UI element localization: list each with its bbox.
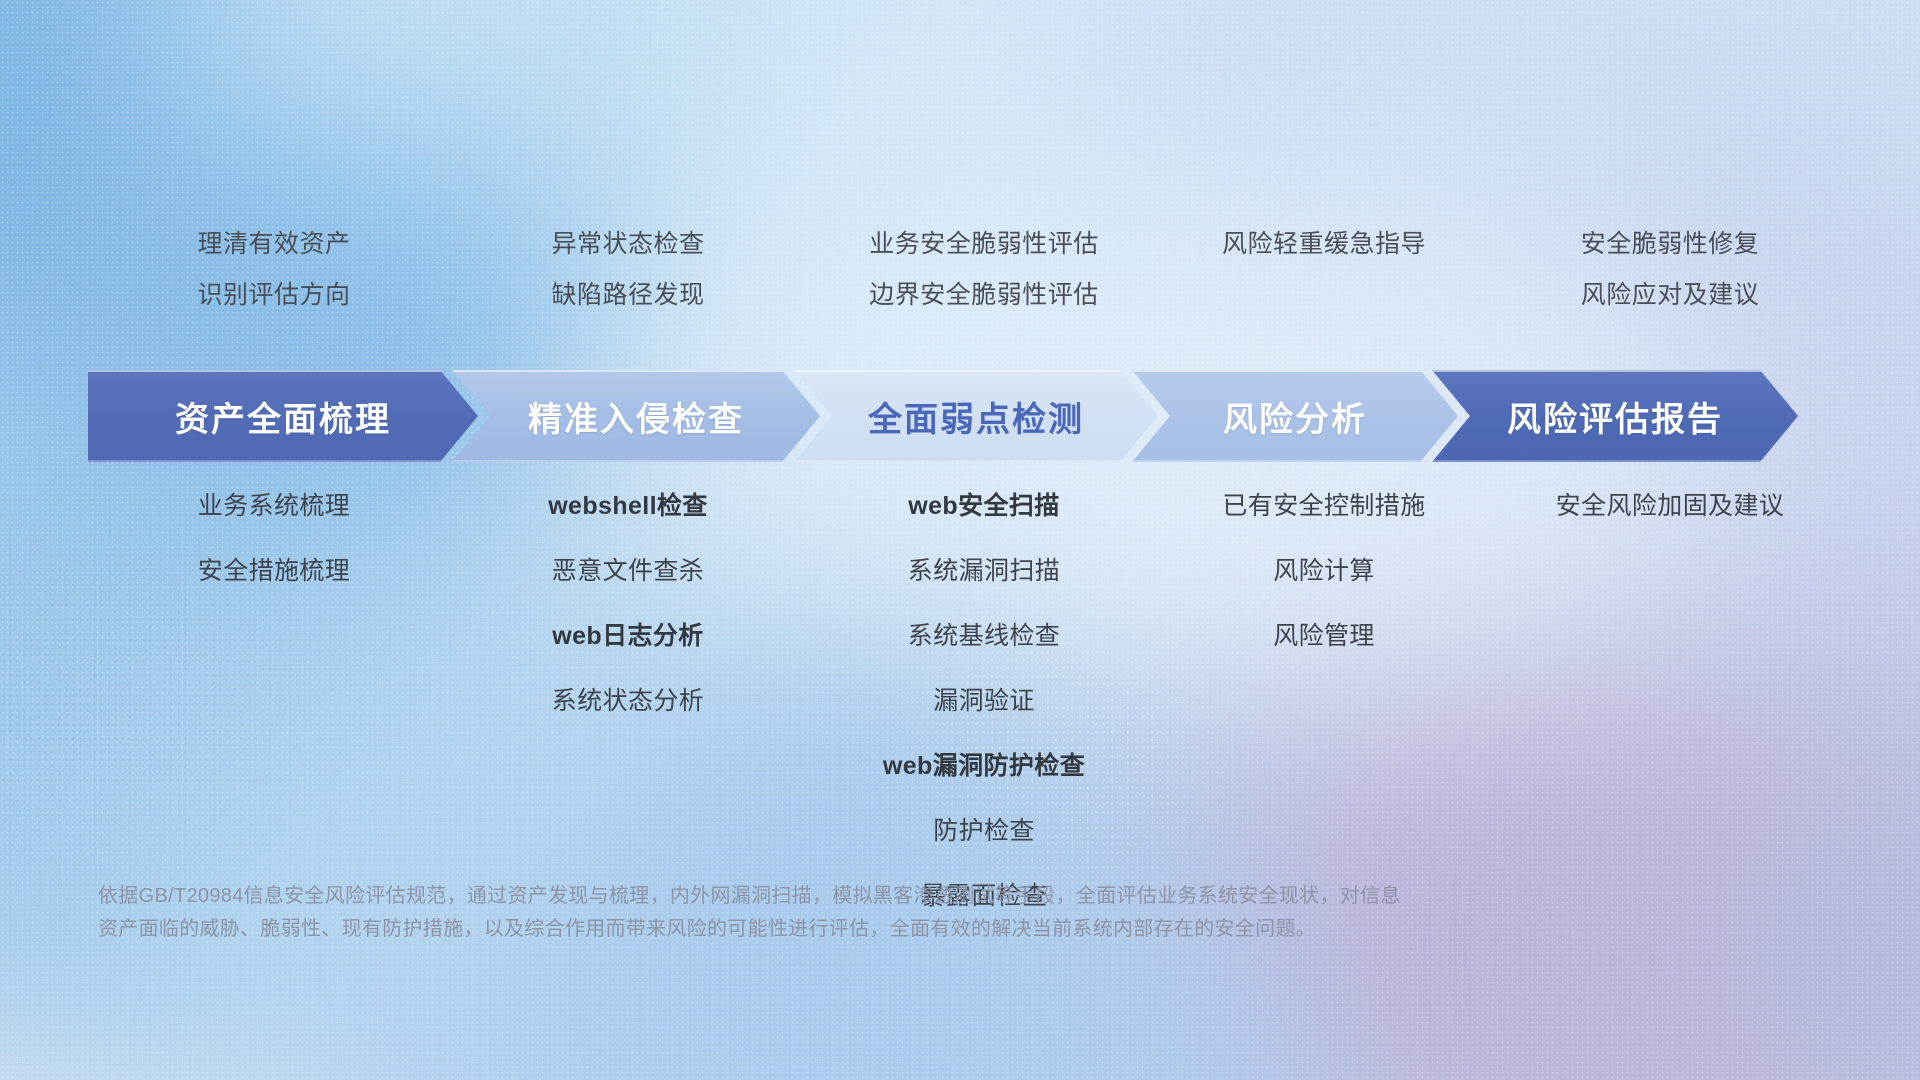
bottom-annotation-item: 风险管理 [1164, 624, 1484, 649]
footer-description: 依据GB/T20984信息安全风险评估规范，通过资产发现与梳理，内外网漏洞扫描，… [98, 880, 1658, 946]
top-annotation-item: 安全脆弱性修复 [1484, 232, 1856, 257]
top-annotation-item: 业务安全脆弱性评估 [804, 232, 1164, 257]
bottom-annotations-intrusion-check: webshell检查 恶意文件查杀 web日志分析 系统状态分析 [452, 454, 804, 909]
stage-chevron-label: 风险分析 [1223, 392, 1367, 441]
bottom-annotation-item: 防护检查 [804, 819, 1164, 844]
top-annotations-row: 理清有效资产 识别评估方向 异常状态检查 缺陷路径发现 业务安全脆弱性评估 边界… [96, 232, 1856, 334]
top-annotations-risk-analysis: 风险轻重缓急指导 [1164, 232, 1484, 334]
bottom-annotation-item: 已有安全控制措施 [1164, 494, 1484, 519]
bottom-annotations-assessment-report: 安全风险加固及建议 [1484, 454, 1856, 909]
top-annotation-item: 理清有效资产 [96, 232, 452, 257]
bottom-annotation-item: webshell检查 [452, 494, 804, 519]
stage-chevron-label: 风险评估报告 [1507, 392, 1723, 441]
bottom-annotation-item: 安全风险加固及建议 [1484, 494, 1856, 519]
top-annotations-weakness-detection: 业务安全脆弱性评估 边界安全脆弱性评估 [804, 232, 1164, 334]
bottom-annotations-asset-inventory: 业务系统梳理 安全措施梳理 [96, 454, 452, 909]
stage-chevron-label: 全面弱点检测 [868, 392, 1084, 441]
bottom-annotation-item: 安全措施梳理 [96, 559, 452, 584]
stage-chevron-intrusion-check[interactable]: 精准入侵检查 [452, 370, 820, 462]
top-annotations-asset-inventory: 理清有效资产 识别评估方向 [96, 232, 452, 334]
top-annotation-item: 风险轻重缓急指导 [1164, 232, 1484, 257]
top-annotation-item: 风险应对及建议 [1484, 283, 1856, 308]
bottom-annotation-item: web漏洞防护检查 [804, 754, 1164, 779]
top-annotations-intrusion-check: 异常状态检查 缺陷路径发现 [452, 232, 804, 334]
bottom-annotations-row: 业务系统梳理 安全措施梳理 webshell检查 恶意文件查杀 web日志分析 … [96, 454, 1856, 909]
stage-chevron-risk-analysis[interactable]: 风险分析 [1132, 370, 1458, 462]
bottom-annotation-item: 业务系统梳理 [96, 494, 452, 519]
footer-line-2: 资产面临的威胁、脆弱性、现有防护措施，以及综合作用而带来风险的可能性进行评估，全… [98, 913, 1658, 946]
bottom-annotation-item: 系统漏洞扫描 [804, 559, 1164, 584]
stage-chevron-asset-inventory[interactable]: 资产全面梳理 [88, 370, 478, 462]
stage-chevron-label: 资产全面梳理 [175, 392, 391, 441]
bottom-annotation-item: 风险计算 [1164, 559, 1484, 584]
bottom-annotation-item: web安全扫描 [804, 494, 1164, 519]
top-annotation-item: 边界安全脆弱性评估 [804, 283, 1164, 308]
stage-chevron-weakness-detection[interactable]: 全面弱点检测 [794, 370, 1158, 462]
top-annotation-item: 识别评估方向 [96, 283, 452, 308]
bottom-annotation-item: 系统基线检查 [804, 624, 1164, 649]
top-annotations-assessment-report: 安全脆弱性修复 风险应对及建议 [1484, 232, 1856, 334]
stage-chevron-band: 资产全面梳理 精准入侵检查 全面弱点检测 风险分析 风险评估报告 [88, 370, 1832, 462]
top-annotation-item: 缺陷路径发现 [452, 283, 804, 308]
bottom-annotations-risk-analysis: 已有安全控制措施 风险计算 风险管理 [1164, 454, 1484, 909]
process-diagram: 理清有效资产 识别评估方向 异常状态检查 缺陷路径发现 业务安全脆弱性评估 边界… [0, 0, 1920, 1080]
top-annotation-item: 异常状态检查 [452, 232, 804, 257]
bottom-annotation-item: 漏洞验证 [804, 689, 1164, 714]
bottom-annotation-item: 系统状态分析 [452, 689, 804, 714]
footer-line-1: 依据GB/T20984信息安全风险评估规范，通过资产发现与梳理，内外网漏洞扫描，… [98, 880, 1658, 913]
stage-chevron-assessment-report[interactable]: 风险评估报告 [1432, 370, 1798, 462]
bottom-annotation-item: 恶意文件查杀 [452, 559, 804, 584]
bottom-annotations-weakness-detection: web安全扫描 系统漏洞扫描 系统基线检查 漏洞验证 web漏洞防护检查 防护检… [804, 454, 1164, 909]
bottom-annotation-item: web日志分析 [452, 624, 804, 649]
stage-chevron-label: 精准入侵检查 [528, 392, 744, 441]
